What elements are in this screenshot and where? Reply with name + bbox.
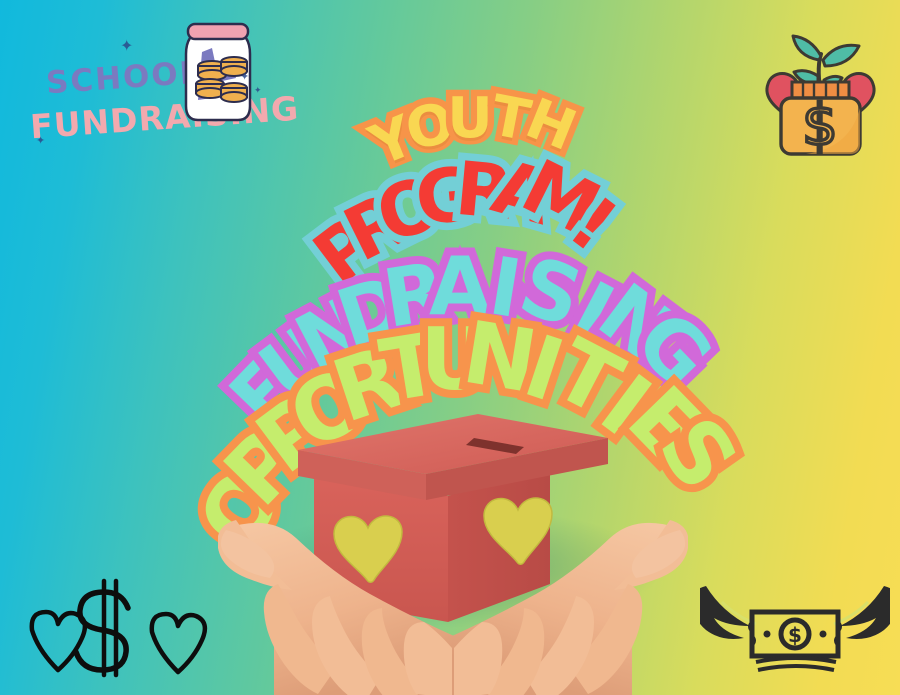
heart-outline-icon — [152, 614, 205, 672]
poster-canvas: SCHOOL FUNDRAISING — [0, 0, 900, 695]
banknote-icon: $ — [748, 612, 842, 670]
arc-letter: Y — [361, 104, 423, 179]
arc-letter: N — [281, 278, 383, 391]
arc-letter: D — [326, 257, 418, 366]
sparkle-icon: ✦ — [240, 70, 249, 83]
arc-letter: N — [582, 266, 691, 381]
dollar-sign-glyph: $ — [802, 93, 838, 158]
arc-letter: O — [368, 160, 452, 260]
arc-letter: I — [483, 239, 527, 336]
arc-letter: A — [429, 240, 491, 333]
wing-left-icon — [700, 586, 756, 639]
money-jar-with-sprout-icon: $ — [748, 22, 893, 162]
arc-letter: I — [558, 264, 627, 360]
sparkle-icon: ✦ — [254, 86, 262, 96]
arc-letter: R — [377, 244, 453, 346]
arc-letter: R — [452, 146, 517, 237]
sparkle-icon: ✦ — [120, 36, 133, 55]
arc-letter: P — [298, 200, 393, 301]
arc-letter: U — [447, 86, 492, 151]
school-fundraising-sticker: SCHOOL FUNDRAISING — [24, 52, 274, 167]
dollar-sign-with-hearts-doodle — [18, 578, 208, 678]
arc-letter: T — [486, 83, 536, 154]
arc-letter: G — [412, 151, 480, 242]
winged-dollar-bill-icon: $ — [700, 572, 890, 682]
arc-letter: O — [401, 90, 460, 163]
arc-letter: H — [517, 86, 585, 164]
arc-letter: M — [509, 143, 613, 253]
arc-letter: R — [331, 176, 420, 278]
arc-letter: ! — [554, 180, 633, 269]
arc-letter: A — [483, 144, 562, 242]
hands-holding-donation-box — [218, 378, 688, 695]
arc-letter: S — [509, 239, 593, 345]
sparkle-icon: ✦ — [36, 134, 45, 147]
wing-right-icon — [834, 586, 890, 639]
heart-outline-icon — [32, 612, 85, 670]
dollar-sign-glyph: $ — [788, 623, 802, 647]
